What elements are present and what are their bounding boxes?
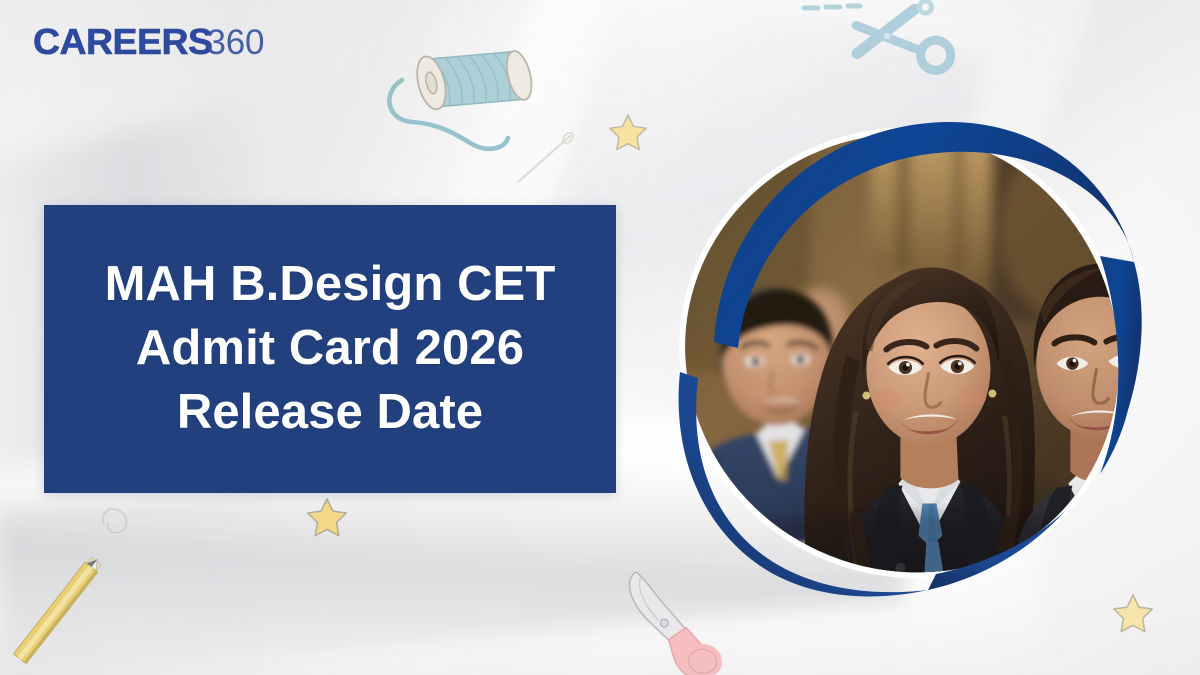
page-title: MAH B.Design CET Admit Card 2026 Release… xyxy=(87,253,574,444)
student-photo-medallion xyxy=(652,104,1152,604)
page-title-line-1: MAH B.Design CET xyxy=(105,257,556,311)
page-title-line-3: Release Date xyxy=(177,385,483,439)
headline-banner: MAH B.Design CET Admit Card 2026 Release… xyxy=(44,205,616,493)
careers360-logo[interactable]: CAREERS 360 xyxy=(33,24,264,60)
logo-word-careers: CAREERS xyxy=(33,24,212,60)
photo-ring-decoration xyxy=(652,104,1152,604)
page-title-line-2: Admit Card 2026 xyxy=(136,321,524,375)
banner-canvas: CAREERS 360 MAH B.Design CET Admit Card … xyxy=(0,0,1200,675)
logo-word-360: 360 xyxy=(207,25,265,60)
